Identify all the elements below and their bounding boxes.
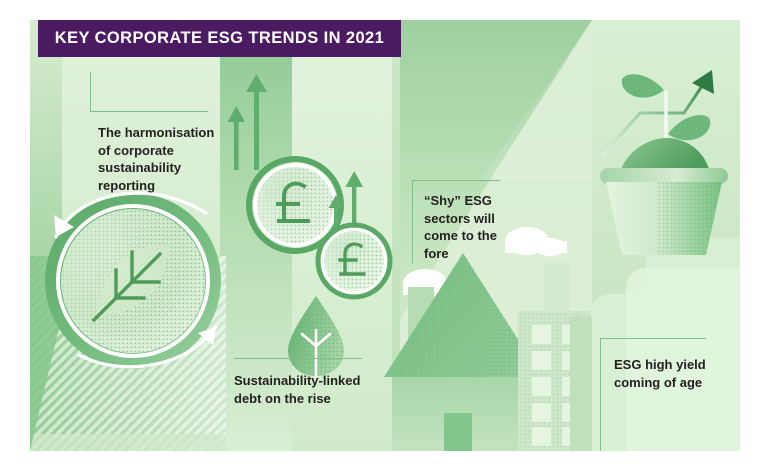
plant-pot-icon — [586, 50, 740, 255]
callout-text: Sustainability-linked debt on the rise — [234, 372, 403, 407]
infographic-root: KEY CORPORATE ESG TRENDS IN 2021 The har… — [0, 0, 768, 471]
callout-bracket-top — [90, 111, 208, 112]
callout-shy-esg-sectors: “Shy” ESG sectors will come to the fore — [406, 180, 541, 262]
callout-text: ESG high yield coming of age — [614, 356, 740, 391]
callout-bracket-left — [412, 180, 413, 264]
callout-bracket-left — [600, 338, 601, 451]
arrow-up-icon-group-large — [226, 60, 306, 170]
callout-bracket-top — [412, 180, 500, 181]
title-banner: KEY CORPORATE ESG TRENDS IN 2021 — [38, 20, 401, 57]
callout-sustainability-linked-debt: Sustainability-linked debt on the rise — [228, 358, 403, 407]
callout-bracket-top — [600, 338, 706, 339]
callout-esg-high-yield: ESG high yield coming of age — [594, 338, 740, 391]
callout-bracket-left — [90, 72, 91, 112]
callout-bracket-top — [234, 358, 362, 359]
recycle-arrows-icon — [30, 175, 240, 390]
callout-text: “Shy” ESG sectors will come to the fore — [424, 192, 541, 262]
infographic-canvas: KEY CORPORATE ESG TRENDS IN 2021 The har… — [30, 20, 740, 451]
pound-coin-small — [315, 222, 393, 300]
callout-harmonisation: The harmonisation of corporate sustainab… — [60, 72, 225, 194]
callout-text: The harmonisation of corporate sustainab… — [98, 124, 225, 194]
page-title: KEY CORPORATE ESG TRENDS IN 2021 — [55, 29, 384, 48]
